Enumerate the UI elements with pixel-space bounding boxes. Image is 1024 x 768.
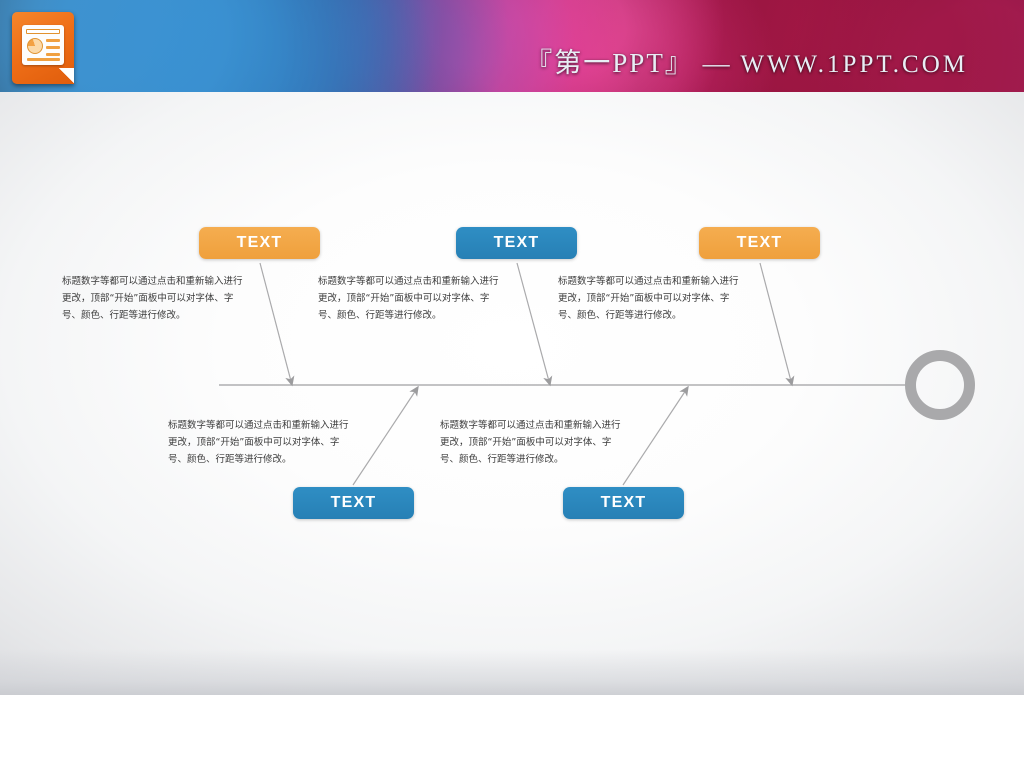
doc-titlebar-glyph	[26, 29, 60, 34]
description-paragraph-b5: 标题数字等都可以通过点击和重新输入进行更改，顶部“开始”面板中可以对字体、字号、…	[440, 417, 628, 468]
text-pill-b1[interactable]: TEXT	[199, 227, 320, 259]
watermark-dash: —	[703, 48, 732, 78]
pie-chart-glyph	[27, 38, 43, 54]
watermark-url: WWW.1PPT.COM	[740, 51, 968, 78]
doc-line-2	[46, 46, 60, 49]
branch-arrow-b3	[760, 263, 792, 385]
description-paragraph-b1: 标题数字等都可以通过点击和重新输入进行更改，顶部“开始”面板中可以对字体、字号、…	[62, 273, 250, 324]
slide-page: 『第一PPT』 — WWW.1PPT.COM TEXTTEXTTEXTTEXTT…	[0, 0, 1024, 768]
branch-arrow-b2	[517, 263, 550, 385]
branch-arrow-b4	[353, 387, 418, 485]
text-pill-b5[interactable]: TEXT	[563, 487, 684, 519]
branch-arrow-b5	[623, 387, 688, 485]
text-pill-label: TEXT	[737, 234, 783, 252]
header-watermark: 『第一PPT』 — WWW.1PPT.COM	[525, 41, 968, 80]
header-banner: 『第一PPT』 — WWW.1PPT.COM	[0, 0, 1024, 92]
text-pill-label: TEXT	[237, 234, 283, 252]
doc-line-1	[46, 39, 60, 42]
slide-canvas: TEXTTEXTTEXTTEXTTEXT 标题数字等都可以通过点击和重新输入进行…	[0, 92, 1024, 695]
text-pill-b4[interactable]: TEXT	[293, 487, 414, 519]
powerpoint-icon	[12, 12, 74, 84]
description-paragraph-b4: 标题数字等都可以通过点击和重新输入进行更改，顶部“开始”面板中可以对字体、字号、…	[168, 417, 356, 468]
footer-bar-area: 第一PPT HTTP://WWW.1PPT.COM	[0, 695, 1024, 768]
text-pill-b2[interactable]: TEXT	[456, 227, 577, 259]
branch-arrow-b1	[260, 263, 292, 385]
description-paragraph-b2: 标题数字等都可以通过点击和重新输入进行更改，顶部“开始”面板中可以对字体、字号、…	[318, 273, 506, 324]
text-pill-b3[interactable]: TEXT	[699, 227, 820, 259]
text-pill-label: TEXT	[601, 494, 647, 512]
page-fold-corner	[58, 68, 74, 84]
fishbone-connectors	[0, 92, 1024, 695]
text-pill-label: TEXT	[331, 494, 377, 512]
watermark-cn: 『第一PPT』	[525, 48, 694, 78]
doc-line-4	[27, 58, 60, 61]
end-ring-icon	[905, 350, 975, 420]
description-paragraph-b3: 标题数字等都可以通过点击和重新输入进行更改，顶部“开始”面板中可以对字体、字号、…	[558, 273, 746, 324]
powerpoint-document-glyph	[22, 25, 64, 65]
doc-line-3	[46, 53, 60, 56]
text-pill-label: TEXT	[494, 234, 540, 252]
